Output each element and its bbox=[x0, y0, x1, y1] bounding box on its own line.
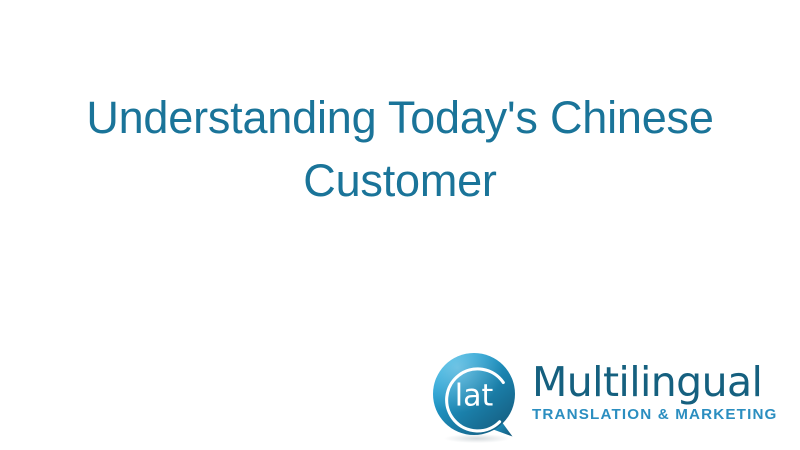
lat-speech-bubble-icon: lat bbox=[432, 352, 524, 444]
presentation-slide: Understanding Today's Chinese Customer bbox=[0, 0, 800, 450]
page-title: Understanding Today's Chinese Customer bbox=[40, 86, 760, 212]
title-block: Understanding Today's Chinese Customer bbox=[40, 86, 760, 212]
logo-tagline: TRANSLATION & MARKETING bbox=[532, 406, 784, 424]
brand-logo: lat Multilingual TRANSLATION & MARKETING bbox=[432, 348, 784, 444]
logo-company-name: Multilingual bbox=[532, 360, 784, 404]
logo-wordmark: Multilingual TRANSLATION & MARKETING bbox=[532, 360, 784, 424]
lat-icon-label: lat bbox=[455, 379, 494, 414]
